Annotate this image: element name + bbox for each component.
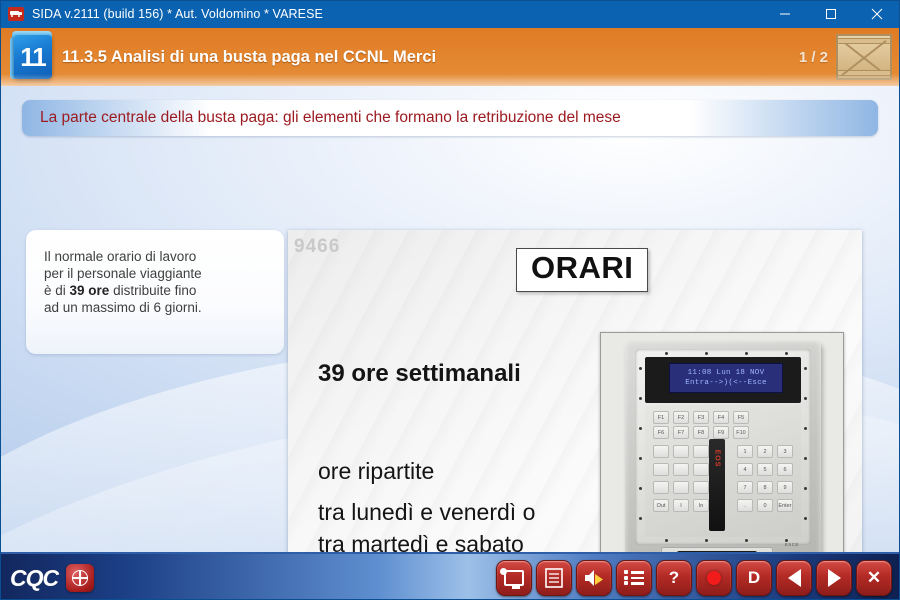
note-line-3-bold: 39 ore <box>70 283 110 298</box>
globe-icon[interactable] <box>66 564 94 592</box>
index-button[interactable] <box>616 560 652 596</box>
bottom-toolbar: CQC <box>0 552 900 600</box>
maximize-button[interactable] <box>808 0 854 28</box>
window-title: SIDA v.2111 (build 156) * Aut. Voldomino… <box>32 7 323 21</box>
content-area: La parte centrale della busta paga: gli … <box>0 86 900 552</box>
speaker-play-icon <box>583 568 605 588</box>
page-indicator: 1 / 2 <box>799 28 828 86</box>
slide-watermark: 9466 <box>294 236 340 258</box>
slide-heading: 39 ore settimanali <box>318 360 521 388</box>
record-button[interactable] <box>696 560 732 596</box>
arrow-left-icon <box>788 569 801 587</box>
bezel-screws <box>635 349 811 545</box>
list-icon <box>624 570 644 586</box>
truck-icon <box>8 7 24 21</box>
audio-button[interactable] <box>576 560 612 596</box>
letter-d-icon: D <box>748 568 760 588</box>
orari-title-text: ORARI <box>531 250 633 285</box>
page-title: 11.3.5 Analisi di una busta paga nel CCN… <box>62 28 436 86</box>
screen-icon <box>504 570 524 586</box>
document-button[interactable] <box>536 560 572 596</box>
note-line-2: per il personale viaggiante <box>44 266 202 281</box>
close-x-icon: ✕ <box>867 568 881 588</box>
document-icon <box>545 568 563 588</box>
note-line-3-pre: è di <box>44 283 70 298</box>
orari-title-box: ORARI <box>516 248 648 292</box>
window-title-bar: SIDA v.2111 (build 156) * Aut. Voldomino… <box>0 0 900 28</box>
toolbar-buttons: ? D ✕ <box>496 560 892 596</box>
next-button[interactable] <box>816 560 852 596</box>
crate-icon <box>836 34 892 80</box>
question-icon: ? <box>669 568 679 588</box>
slide-line-2: tra lunedì e venerdì o tra martedì e sab… <box>318 496 535 552</box>
previous-button[interactable] <box>776 560 812 596</box>
brand-logo: CQC <box>10 562 94 594</box>
record-dot-icon <box>707 571 721 585</box>
exit-button[interactable]: ✕ <box>856 560 892 596</box>
help-button[interactable]: ? <box>656 560 692 596</box>
brand-text: CQC <box>10 565 58 592</box>
lesson-header: 11 11.3.5 Analisi di una busta paga nel … <box>0 28 900 86</box>
time-clock-photo: 11:08 Lun 18 NOV Entra-->)(<--Esce F1 F2… <box>600 332 844 552</box>
subtitle-text: La parte centrale della busta paga: gli … <box>22 100 878 136</box>
application-window: SIDA v.2111 (build 156) * Aut. Voldomino… <box>0 0 900 600</box>
slide-line-2b: tra martedì e sabato <box>318 531 524 552</box>
slide-line-1: ore ripartite <box>318 458 434 485</box>
note-line-4: ad un massimo di 6 giorni. <box>44 300 202 315</box>
slide-line-2a: tra lunedì e venerdì o <box>318 499 535 525</box>
subtitle-banner: La parte centrale della busta paga: gli … <box>22 100 878 136</box>
slide-image[interactable]: 9466 ORARI 39 ore settimanali ore ripart… <box>288 230 862 552</box>
label-esce: ESCE <box>785 542 799 547</box>
chapter-badge-number: 11 <box>14 35 52 79</box>
minimize-button[interactable] <box>762 0 808 28</box>
device-bezel: 11:08 Lun 18 NOV Entra-->)(<--Esce F1 F2… <box>635 349 811 545</box>
close-button[interactable] <box>854 0 900 28</box>
note-line-1: Il normale orario di lavoro <box>44 249 196 264</box>
presentation-button[interactable] <box>496 560 532 596</box>
note-text: Il normale orario di lavoro per il perso… <box>44 248 272 316</box>
arrow-right-icon <box>828 569 841 587</box>
domande-button[interactable]: D <box>736 560 772 596</box>
note-card: Il normale orario di lavoro per il perso… <box>26 230 284 354</box>
note-line-3-post: distribuite fino <box>109 283 196 298</box>
chapter-badge-icon: 11 <box>10 31 54 83</box>
device-body: 11:08 Lun 18 NOV Entra-->)(<--Esce F1 F2… <box>625 341 821 552</box>
